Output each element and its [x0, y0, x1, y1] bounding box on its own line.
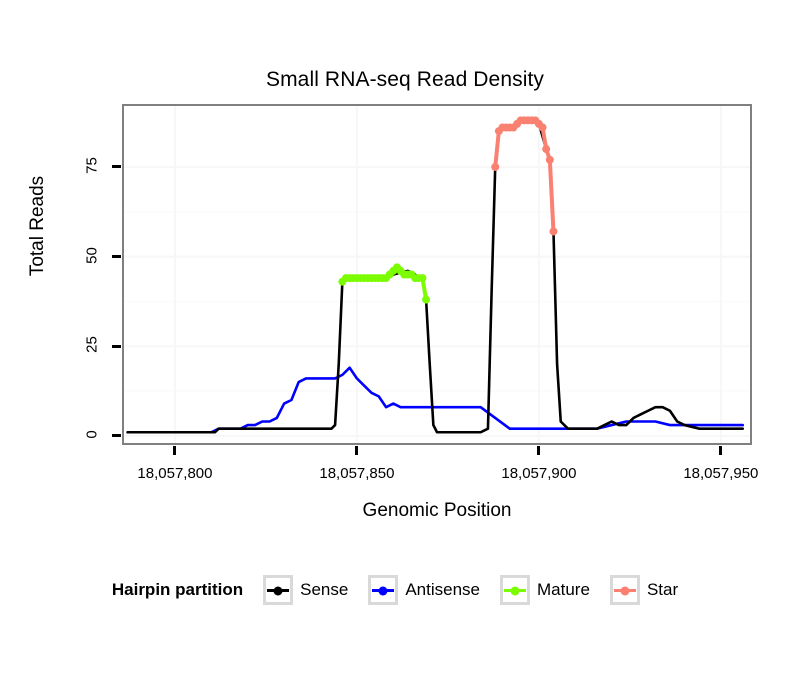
- y-tick-label: 0: [84, 414, 101, 454]
- y-axis-title: Total Reads: [27, 136, 49, 316]
- y-tick-mark: [112, 165, 121, 168]
- legend-key-mature: [500, 575, 530, 605]
- series-mature: [338, 263, 430, 303]
- data-point: [539, 124, 547, 132]
- series-antisense: [128, 368, 743, 433]
- legend-key-dot: [379, 586, 388, 595]
- x-tick-label: 18,057,850: [297, 465, 417, 482]
- legend-key-dot: [620, 586, 629, 595]
- y-tick-label: 25: [84, 325, 101, 365]
- legend-label: Mature: [537, 580, 590, 600]
- x-tick-mark: [719, 446, 722, 455]
- legend-label: Antisense: [405, 580, 480, 600]
- x-tick-label: 18,057,950: [661, 465, 781, 482]
- legend-item-sense[interactable]: Sense: [263, 575, 362, 605]
- x-tick-label: 18,057,800: [115, 465, 235, 482]
- data-point: [549, 227, 557, 235]
- y-tick-label: 50: [84, 235, 101, 275]
- x-tick-mark: [173, 446, 176, 455]
- legend: Hairpin partition SenseAntisenseMatureSt…: [0, 575, 810, 605]
- legend-key-dot: [511, 586, 520, 595]
- y-tick-mark: [112, 255, 121, 258]
- data-point: [546, 156, 554, 164]
- data-point: [422, 296, 430, 304]
- legend-label: Star: [647, 580, 678, 600]
- legend-key-dot: [274, 586, 283, 595]
- series-line-antisense: [128, 368, 743, 433]
- series-star: [491, 116, 557, 235]
- x-tick-mark: [537, 446, 540, 455]
- legend-key-antisense: [368, 575, 398, 605]
- y-tick-label: 75: [84, 145, 101, 185]
- data-point: [542, 145, 550, 153]
- legend-item-mature[interactable]: Mature: [500, 575, 604, 605]
- legend-item-star[interactable]: Star: [610, 575, 692, 605]
- data-point: [418, 274, 426, 282]
- legend-key-sense: [263, 575, 293, 605]
- chart-figure: Small RNA-seq Read Density Total Reads G…: [0, 0, 810, 690]
- y-tick-mark: [112, 345, 121, 348]
- x-tick-label: 18,057,900: [479, 465, 599, 482]
- chart-title: Small RNA-seq Read Density: [0, 68, 810, 92]
- legend-label: Sense: [300, 580, 348, 600]
- plot-panel: [122, 104, 752, 445]
- legend-key-star: [610, 575, 640, 605]
- legend-item-antisense[interactable]: Antisense: [368, 575, 494, 605]
- x-tick-mark: [355, 446, 358, 455]
- series-line-star: [495, 120, 553, 231]
- x-axis-title: Genomic Position: [122, 500, 752, 522]
- y-tick-mark: [112, 434, 121, 437]
- data-point: [491, 163, 499, 171]
- legend-entries: SenseAntisenseMatureStar: [263, 575, 698, 605]
- legend-title: Hairpin partition: [112, 580, 243, 600]
- plot-area: [124, 106, 750, 443]
